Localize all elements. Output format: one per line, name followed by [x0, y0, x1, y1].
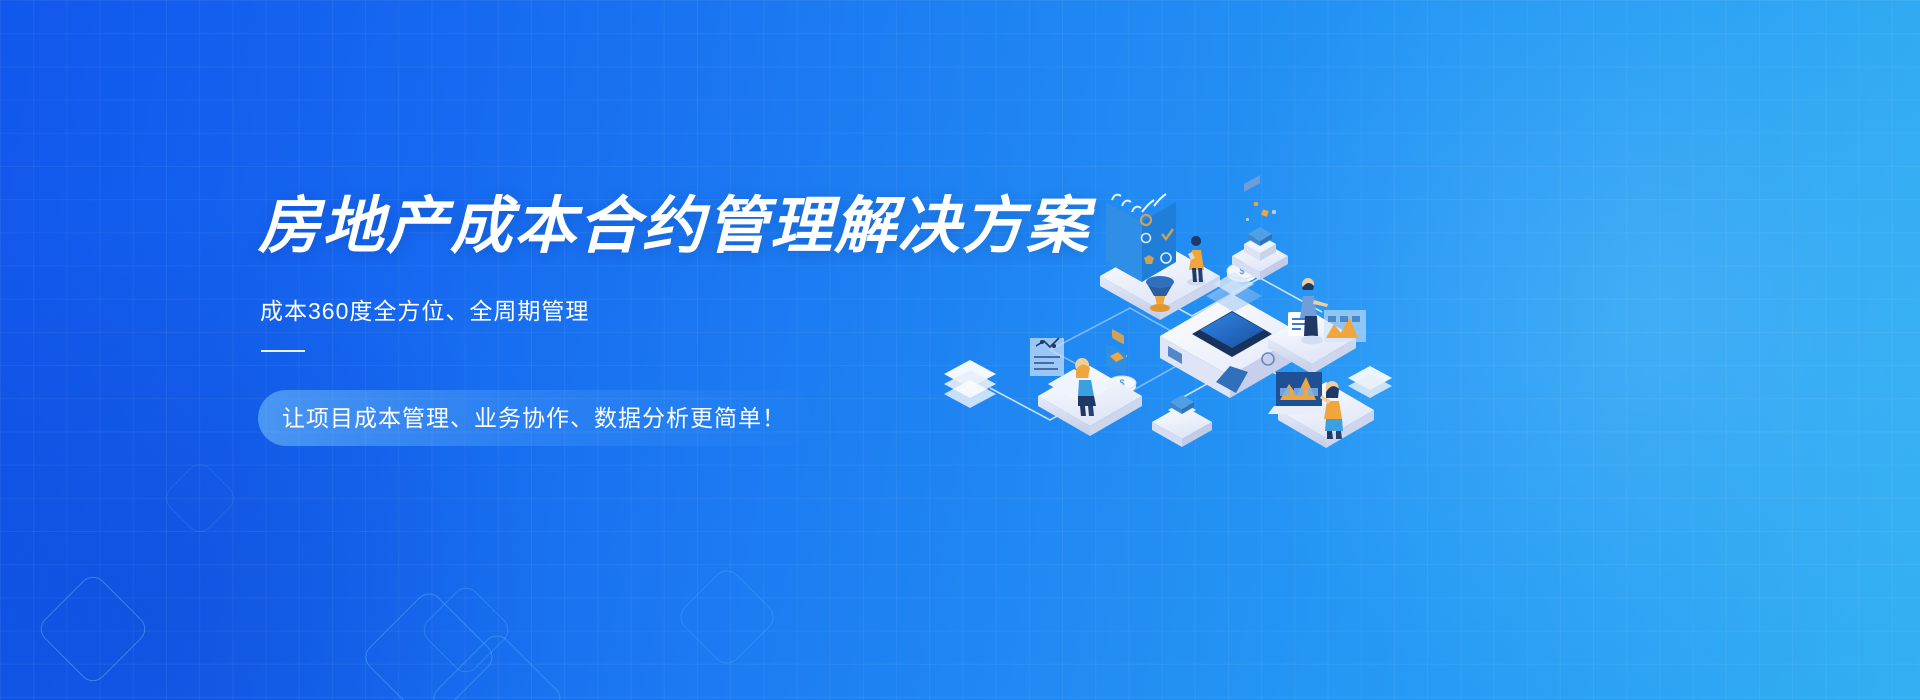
decorative-diamond — [428, 630, 567, 700]
title-divider — [261, 350, 305, 352]
decorative-diamond — [160, 458, 239, 537]
decorative-diamond — [675, 565, 780, 670]
paper-stack — [1348, 366, 1392, 398]
paper-stack — [944, 360, 996, 408]
tablet-icon — [1106, 344, 1126, 376]
decorative-diamond — [35, 571, 151, 687]
decorative-diamond — [418, 582, 514, 678]
hero-illustration: $ $ $ — [930, 160, 1400, 450]
data-cube-tower — [1152, 395, 1212, 447]
page-subtitle: 成本360度全方位、全周期管理 — [260, 292, 1018, 326]
tagline-badge: 让项目成本管理、业务协作、数据分析更简单！ — [258, 390, 814, 446]
page-title: 房地产成本合约管理解决方案 — [258, 196, 1018, 258]
hero-text-block: 房地产成本合约管理解决方案 成本360度全方位、全周期管理 让项目成本管理、业务… — [258, 196, 1018, 446]
decorative-diamond — [360, 588, 499, 700]
document-clipboard — [1030, 338, 1064, 376]
hero-banner: 房地产成本合约管理解决方案 成本360度全方位、全周期管理 让项目成本管理、业务… — [0, 0, 1920, 700]
seated-woman-plate — [1030, 338, 1142, 436]
presentation-screen — [1324, 310, 1366, 342]
data-cube-tower — [1232, 202, 1288, 280]
